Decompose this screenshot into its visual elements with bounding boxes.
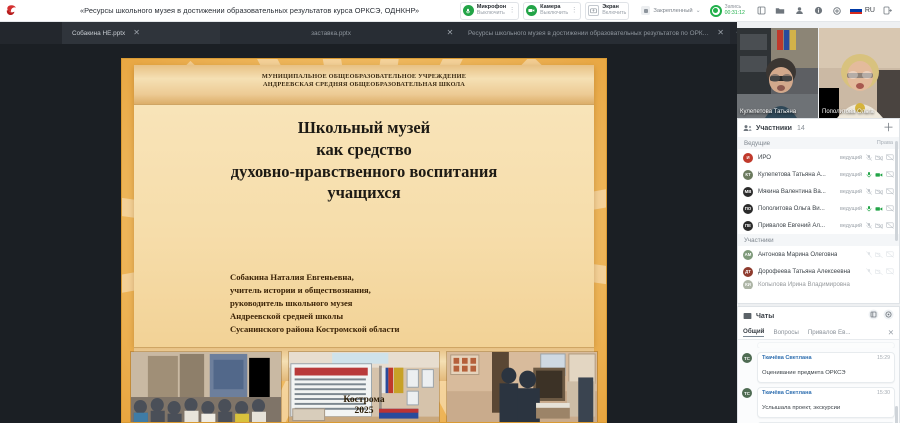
layout-selector[interactable]: Закрепленный ⌄: [641, 6, 700, 15]
slide-city: Кострома: [122, 395, 606, 407]
author-name: Собакина Наталия Евгеньевна,: [230, 271, 399, 284]
slide-title: Школьный музей как средство духовно-нрав…: [154, 117, 574, 204]
microphone-icon: [463, 5, 474, 16]
camera-off-icon[interactable]: [875, 252, 883, 258]
video-tile-popolitova[interactable]: Пополитова Ольга: [819, 28, 900, 118]
plus-icon[interactable]: ＋: [883, 123, 894, 134]
info-icon[interactable]: [810, 2, 827, 19]
message-author: Ткачёва Светлана: [762, 390, 812, 396]
participant-row-kulepetova[interactable]: КТ Кулепетова Татьяна А... ведущий: [738, 166, 899, 183]
camera-on-icon[interactable]: [875, 172, 883, 178]
author-position: учитель истории и обществознания,: [230, 284, 399, 297]
microphone-on-icon[interactable]: [866, 171, 872, 178]
folder-icon[interactable]: [772, 2, 789, 19]
microphone-on-icon[interactable]: [866, 205, 872, 212]
chat-tab-general[interactable]: Общий: [743, 328, 764, 337]
chat-icon: [743, 307, 752, 325]
chat-scrollbar[interactable]: [895, 406, 898, 423]
participant-name: Антонова Марина Олеговна: [758, 251, 837, 258]
participant-row-iro[interactable]: И ИРО ведущий: [738, 149, 899, 166]
avatar: ТС: [742, 353, 752, 363]
participants-panel: Участники 14 ＋ Ведущие Права И ИРО ведущ…: [737, 118, 900, 304]
participant-row-myakina[interactable]: МВ Мякина Валентина Ва... ведущий: [738, 183, 899, 200]
tab-label: Ресурсы школьного музея в достижении обр…: [468, 30, 709, 37]
participant-role: ведущий: [840, 172, 862, 178]
presentation-stage[interactable]: МУНИЦИПАЛЬНОЕ ОБЩЕОБРАЗОВАТЕЛЬНОЕ УЧРЕЖД…: [0, 44, 737, 423]
avatar: ТС: [742, 388, 752, 398]
participant-name: Пополитова Ольга Ви...: [758, 205, 825, 212]
tabbar-left-spacer: [0, 22, 62, 44]
screen-share-off-icon[interactable]: [886, 251, 894, 258]
microphone-off-icon[interactable]: [866, 268, 872, 275]
camera-options-icon[interactable]: ⋮: [570, 7, 578, 14]
camera-state: Выключить: [540, 11, 568, 16]
close-icon[interactable]: ✕: [888, 328, 894, 337]
participants-group-header-hosts: Ведущие Права: [738, 137, 899, 149]
avatar: ПЕ: [743, 221, 753, 231]
screen-share-off-icon[interactable]: [886, 154, 894, 161]
avatar: КТ: [743, 170, 753, 180]
close-icon[interactable]: ✕: [447, 29, 454, 37]
slide-author-block: Собакина Наталия Евгеньевна, учитель ист…: [230, 271, 399, 336]
language-label[interactable]: RU: [865, 7, 875, 14]
app-logo-icon: [0, 0, 22, 22]
camera-off-icon[interactable]: [875, 223, 883, 229]
participants-group-header-attendees: Участники: [738, 234, 899, 246]
chat-header: Чаты: [738, 307, 899, 325]
screen-share-off-icon[interactable]: [886, 222, 894, 229]
message-author: Ткачёва Светлана: [762, 355, 812, 361]
tab-label: Собакина НЕ.pptx: [72, 30, 125, 37]
participant-name: ИРО: [758, 154, 771, 161]
tab-resursy-shkolnogo-muzeya[interactable]: Ресурсы школьного музея в достижении обр…: [458, 22, 730, 44]
layout-icon: [641, 6, 650, 15]
exit-icon[interactable]: [879, 2, 896, 19]
participant-row-dorofeeva[interactable]: ДТ Дорофеева Татьяна Алексеевна: [738, 263, 899, 280]
participant-row-privalov[interactable]: ПЕ Привалов Евгений Ал... ведущий: [738, 217, 899, 234]
tab-zastavka-close[interactable]: ✕: [442, 22, 458, 44]
participant-row-antonova[interactable]: АМ Антонова Марина Олеговна: [738, 246, 899, 263]
camera-off-icon[interactable]: [875, 155, 883, 161]
video-participant-name: Кулепетова Татьяна: [740, 109, 796, 115]
parchment-panel: МУНИЦИПАЛЬНОЕ ОБЩЕОБРАЗОВАТЕЛЬНОЕ УЧРЕЖД…: [134, 65, 594, 347]
camera-button[interactable]: Камера Выключить ⋮: [523, 2, 581, 20]
author-role: руководитель школьного музея: [230, 297, 399, 310]
camera-on-icon[interactable]: [875, 206, 883, 212]
toolbar-actions: Микрофон Выключить ⋮ Камера Выключить ⋮: [460, 0, 900, 22]
screen-share-off-icon[interactable]: [886, 268, 894, 275]
rights-column-label: Права: [877, 140, 893, 146]
avatar: КИ: [743, 280, 753, 289]
notes-icon[interactable]: [753, 2, 770, 19]
slide-caption: Кострома 2025: [122, 395, 606, 418]
participant-name: Привалов Евгений Ал...: [758, 222, 825, 229]
participant-row-kopylova[interactable]: КИ Копылова Ирина Владимировна: [738, 280, 899, 289]
camera-off-icon[interactable]: [875, 269, 883, 275]
message-time: 15:30: [877, 390, 890, 396]
chat-message-list[interactable]: ТС ... ТС Ткачёва Светлана 15:29 Оценива…: [738, 340, 899, 423]
author-school: Андреевской средней школы: [230, 310, 399, 323]
recording-time: 00:31:12: [725, 11, 745, 16]
video-tile-kulepetova[interactable]: Кулепетова Татьяна: [737, 28, 818, 118]
message-bubble: Ткачёва Светлана 15:29 Оценивание предме…: [757, 352, 895, 383]
participant-name: Дорофеева Татьяна Алексеевна: [758, 268, 850, 275]
microphone-off-icon[interactable]: [866, 251, 872, 258]
tab-label: заставка.pptx: [311, 30, 351, 37]
gear-icon[interactable]: [829, 2, 846, 19]
slide-year: 2025: [122, 406, 606, 418]
screen-share-off-icon[interactable]: [886, 188, 894, 195]
message-text: Услышала проект, экскурсии: [762, 405, 840, 411]
video-participant-name: Пополитова Ольга: [822, 109, 874, 115]
microphone-options-icon[interactable]: ⋮: [508, 7, 516, 14]
screen-share-icon: [588, 5, 599, 16]
screen-share-off-icon[interactable]: [886, 171, 894, 178]
chat-message[interactable]: ТС Ткачёва Светлана 15:29 Оценивание пре…: [742, 352, 895, 383]
group-label: Ведущие: [744, 140, 770, 147]
participant-name: Копылова Ирина Владимировна: [758, 281, 850, 288]
participants-icon: [743, 124, 752, 132]
chat-tab-bar: Общий Вопросы Привалов Ев... ✕: [738, 325, 899, 340]
screen-share-off-icon[interactable]: [886, 205, 894, 212]
screen-share-button[interactable]: Экран Включить: [585, 2, 629, 20]
person-add-icon[interactable]: [791, 2, 808, 19]
participants-count: 14: [797, 125, 805, 132]
participant-role: ведущий: [840, 206, 862, 212]
microphone-off-icon[interactable]: [866, 154, 872, 161]
slide-title-line-1: Школьный музей: [154, 117, 574, 139]
microphone-off-icon[interactable]: [866, 188, 872, 195]
author-region: Сусанинского района Костромской области: [230, 323, 399, 336]
avatar: ДТ: [743, 267, 753, 277]
participant-role: ведущий: [840, 223, 862, 229]
record-icon: [710, 5, 722, 17]
avatar: И: [743, 153, 753, 163]
avatar: МВ: [743, 187, 753, 197]
language-flag-icon[interactable]: [850, 7, 862, 15]
recording-indicator[interactable]: Запись 00:31:12: [710, 5, 745, 17]
message-text: Оценивание предмета ОРКСЭ: [762, 370, 846, 376]
slide-canvas[interactable]: МУНИЦИПАЛЬНОЕ ОБЩЕОБРАЗОВАТЕЛЬНОЕ УЧРЕЖД…: [121, 58, 607, 423]
chat-list-icon[interactable]: [868, 307, 879, 325]
participant-role: ведущий: [840, 189, 862, 195]
avatar: ПО: [743, 204, 753, 214]
participants-scrollbar[interactable]: [895, 141, 898, 241]
message-time: 15:29: [877, 355, 890, 361]
video-thumbnail-row: Кулепетова Татьяна Пополитов: [737, 28, 900, 118]
tab-zastavka-pptx[interactable]: заставка.pptx: [220, 22, 442, 44]
chat-message[interactable]: ТС Ткачёва Светлана 15:30 Услышала проек…: [742, 387, 895, 418]
participant-name: Мякина Валентина Ва...: [758, 188, 826, 195]
layout-label: Закрепленный: [653, 8, 692, 14]
microphone-button[interactable]: Микрофон Выключить ⋮: [460, 2, 519, 20]
message-bubble: Ткачёва Светлана 15:30 Услышала проект, …: [757, 387, 895, 418]
chat-tab-questions[interactable]: Вопросы: [773, 329, 798, 336]
tab-sobakina-pptx[interactable]: Собакина НЕ.pptx ✕: [62, 22, 220, 44]
right-sidebar: Кулепетова Татьяна Пополитов: [737, 22, 900, 423]
chat-message-partial: ТС ...: [742, 342, 895, 348]
close-icon[interactable]: ✕: [717, 29, 724, 37]
slide-title-line-3: духовно-нравственного воспитания: [154, 161, 574, 183]
camera-icon: [526, 5, 537, 16]
participants-title: Участники: [756, 125, 792, 132]
chevron-down-icon[interactable]: ⌄: [696, 7, 701, 14]
meeting-app-window: «Ресурсы школьного музея в достижении об…: [0, 0, 900, 423]
chat-tab-privalov[interactable]: Привалов Ев...: [808, 329, 851, 336]
close-icon[interactable]: ✕: [133, 29, 140, 37]
slide-title-line-2: как средство: [154, 139, 574, 161]
group-label: Участники: [744, 237, 774, 244]
camera-off-icon[interactable]: [875, 189, 883, 195]
participants-header: Участники 14 ＋: [738, 119, 899, 137]
gear-icon[interactable]: [883, 307, 894, 325]
chat-title: Чаты: [756, 313, 774, 320]
slide-title-line-4: учащихся: [154, 182, 574, 204]
microphone-state: Выключить: [477, 11, 506, 16]
screen-state: Включить: [602, 11, 626, 16]
avatar: АМ: [743, 250, 753, 260]
organization-line-2: АНДРЕЕВСКАЯ СРЕДНЯЯ ОБЩЕОБРАЗОВАТЕЛЬНАЯ …: [134, 80, 594, 89]
participant-name: Кулепетова Татьяна А...: [758, 171, 826, 178]
meeting-title: «Ресурсы школьного музея в достижении об…: [80, 6, 419, 15]
microphone-off-icon[interactable]: [866, 222, 872, 229]
top-toolbar: «Ресурсы школьного музея в достижении об…: [0, 0, 900, 22]
participant-row-popolitova[interactable]: ПО Пополитова Ольга Ви... ведущий: [738, 200, 899, 217]
participant-role: ведущий: [840, 155, 862, 161]
chat-panel: Чаты Общий Вопросы Привалов Ев... ✕: [737, 306, 900, 423]
